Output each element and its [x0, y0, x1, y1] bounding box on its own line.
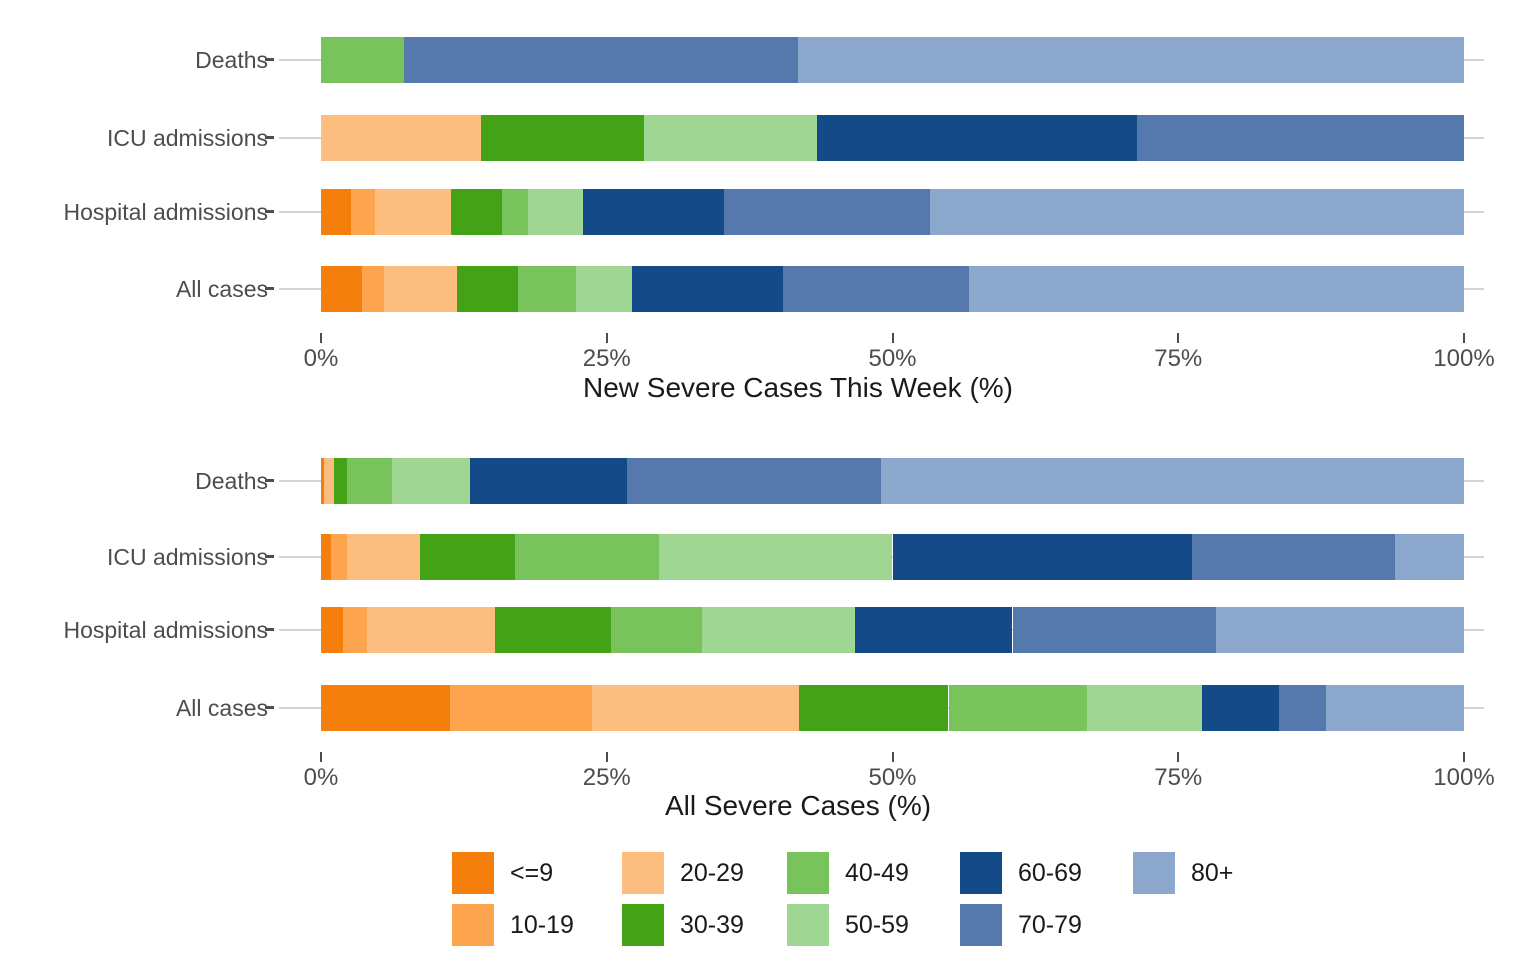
y-axis-label-deaths: Deaths: [195, 458, 268, 504]
bar-segment-40-49: [321, 37, 404, 83]
stacked-bar: [321, 266, 1464, 312]
bar-segment-80x: [930, 189, 1464, 235]
bar-segment-40-49: [347, 458, 392, 504]
bar-segment-40-49: [949, 685, 1087, 731]
bar-segment-80x: [969, 266, 1464, 312]
chart-page: DeathsICU admissionsHospital admissionsA…: [0, 0, 1536, 960]
bar-segment-60-69: [893, 534, 1192, 580]
y-axis-tick: [265, 706, 274, 709]
bar-segment-50-59: [528, 189, 583, 235]
bar-row: Hospital admissions: [0, 607, 1536, 653]
legend-label: 20-29: [680, 850, 744, 896]
bar-row: ICU admissions: [0, 534, 1536, 580]
bar-segment-10-19: [351, 189, 375, 235]
bar-segment-70-79: [783, 266, 969, 312]
panel-new-severe-cases: DeathsICU admissionsHospital admissionsA…: [0, 0, 1536, 418]
bar-segment-xx9: [321, 607, 343, 653]
bar-segment-30-39: [334, 458, 348, 504]
bar-segment-70-79: [724, 189, 930, 235]
bar-segment-30-39: [799, 685, 949, 731]
legend-swatch-icon: [960, 852, 1002, 894]
y-axis-tick: [265, 479, 274, 482]
stacked-bar: [321, 37, 1464, 83]
bar-segment-60-69: [583, 189, 725, 235]
bar-row: Deaths: [0, 458, 1536, 504]
bar-segment-80x: [798, 37, 1464, 83]
bar-segment-20-29: [324, 458, 333, 504]
x-axis-tick-label: 25%: [583, 764, 631, 792]
legend-swatch-icon: [622, 904, 664, 946]
x-axis-tick-label: 100%: [1433, 345, 1494, 373]
bar-segment-60-69: [1202, 685, 1279, 731]
legend-swatch-icon: [787, 904, 829, 946]
bar-segment-20-29: [384, 266, 457, 312]
bar-row: Deaths: [0, 37, 1536, 83]
bar-segment-30-39: [481, 115, 644, 161]
bar-segment-50-59: [576, 266, 632, 312]
x-axis-tick: [1177, 752, 1179, 762]
bar-segment-30-39: [457, 266, 518, 312]
bar-segment-10-19: [450, 685, 592, 731]
x-axis-tick-label: 75%: [1154, 345, 1202, 373]
x-axis-tick: [1177, 333, 1179, 343]
stacked-bar: [321, 458, 1464, 504]
legend-swatch-icon: [1133, 852, 1175, 894]
bar-segment-50-59: [644, 115, 817, 161]
y-axis-label-icu-admissions: ICU admissions: [107, 534, 268, 580]
bar-segment-60-69: [470, 458, 628, 504]
bar-segment-30-39: [451, 189, 501, 235]
y-axis-tick: [265, 136, 274, 139]
legend-swatch-icon: [452, 904, 494, 946]
y-axis-label-deaths: Deaths: [195, 37, 268, 83]
legend-swatch-icon: [622, 852, 664, 894]
bar-segment-80x: [1395, 534, 1464, 580]
bar-segment-60-69: [855, 607, 1013, 653]
bar-row: All cases: [0, 266, 1536, 312]
bar-segment-80x: [1326, 685, 1464, 731]
bar-segment-50-59: [1087, 685, 1202, 731]
bar-segment-20-29: [347, 534, 420, 580]
x-axis-tick-label: 0%: [304, 764, 339, 792]
x-axis-tick-label: 25%: [583, 345, 631, 373]
x-axis-tick: [320, 333, 322, 343]
bar-segment-40-49: [515, 534, 659, 580]
bar-segment-20-29: [321, 115, 481, 161]
y-axis-label-hospital-admissions: Hospital admissions: [63, 189, 268, 235]
y-axis-label-hospital-admissions: Hospital admissions: [63, 607, 268, 653]
x-axis-tick-label: 50%: [868, 764, 916, 792]
legend-label: 40-49: [845, 850, 909, 896]
bar-segment-70-79: [1279, 685, 1326, 731]
legend-swatch-icon: [787, 852, 829, 894]
x-axis-tick: [1463, 752, 1465, 762]
y-axis-label-icu-admissions: ICU admissions: [107, 115, 268, 161]
stacked-bar: [321, 115, 1464, 161]
bar-segment-80x: [881, 458, 1464, 504]
x-axis-tick: [892, 333, 894, 343]
y-axis-tick: [265, 58, 274, 61]
bar-segment-10-19: [343, 607, 367, 653]
x-axis-tick: [606, 333, 608, 343]
legend-swatch-icon: [452, 852, 494, 894]
bar-segment-10-19: [362, 266, 384, 312]
y-axis-tick: [265, 555, 274, 558]
bar-segment-40-49: [502, 189, 528, 235]
bar-segment-40-49: [611, 607, 701, 653]
bar-segment-70-79: [404, 37, 797, 83]
x-axis-tick-label: 0%: [304, 345, 339, 373]
legend: <=910-1920-2930-3940-4950-5960-6970-7980…: [0, 845, 1536, 960]
legend-swatch-icon: [960, 904, 1002, 946]
panel-all-severe-cases: DeathsICU admissionsHospital admissionsA…: [0, 430, 1536, 830]
legend-label: 80+: [1191, 850, 1233, 896]
x-axis-tick: [606, 752, 608, 762]
x-axis-title-bottom: All Severe Cases (%): [0, 790, 1536, 822]
y-axis-tick: [265, 210, 274, 213]
x-axis-title-top: New Severe Cases This Week (%): [0, 372, 1536, 404]
bar-row: Hospital admissions: [0, 189, 1536, 235]
bar-segment-30-39: [420, 534, 515, 580]
x-axis-tick-label: 100%: [1433, 764, 1494, 792]
bar-segment-20-29: [375, 189, 452, 235]
bar-segment-xx9: [321, 266, 362, 312]
y-axis-tick: [265, 287, 274, 290]
bar-segment-60-69: [632, 266, 783, 312]
bar-segment-80x: [1216, 607, 1464, 653]
bar-segment-xx9: [321, 189, 351, 235]
y-axis-tick: [265, 628, 274, 631]
x-axis-tick: [320, 752, 322, 762]
bar-segment-70-79: [1013, 607, 1216, 653]
x-axis-tick: [892, 752, 894, 762]
bar-row: All cases: [0, 685, 1536, 731]
legend-label: 10-19: [510, 902, 574, 948]
bar-segment-xx9: [321, 685, 450, 731]
legend-label: 60-69: [1018, 850, 1082, 896]
bar-segment-70-79: [1137, 115, 1464, 161]
bar-segment-20-29: [367, 607, 495, 653]
bar-segment-10-19: [331, 534, 347, 580]
bar-segment-50-59: [702, 607, 855, 653]
bar-row: ICU admissions: [0, 115, 1536, 161]
bar-segment-70-79: [1192, 534, 1395, 580]
bar-segment-40-49: [518, 266, 576, 312]
bar-segment-60-69: [817, 115, 1137, 161]
legend-label: 50-59: [845, 902, 909, 948]
stacked-bar: [321, 685, 1464, 731]
x-axis-tick-label: 50%: [868, 345, 916, 373]
x-axis-tick: [1463, 333, 1465, 343]
y-axis-label-all-cases: All cases: [176, 685, 268, 731]
legend-label: 30-39: [680, 902, 744, 948]
bar-segment-50-59: [392, 458, 470, 504]
stacked-bar: [321, 534, 1464, 580]
bar-segment-20-29: [592, 685, 799, 731]
bar-segment-xx9: [321, 534, 331, 580]
x-axis-tick-label: 75%: [1154, 764, 1202, 792]
legend-label: 70-79: [1018, 902, 1082, 948]
bar-segment-30-39: [495, 607, 612, 653]
bar-segment-50-59: [659, 534, 892, 580]
bar-segment-70-79: [627, 458, 881, 504]
stacked-bar: [321, 607, 1464, 653]
y-axis-label-all-cases: All cases: [176, 266, 268, 312]
legend-label: <=9: [510, 850, 553, 896]
stacked-bar: [321, 189, 1464, 235]
